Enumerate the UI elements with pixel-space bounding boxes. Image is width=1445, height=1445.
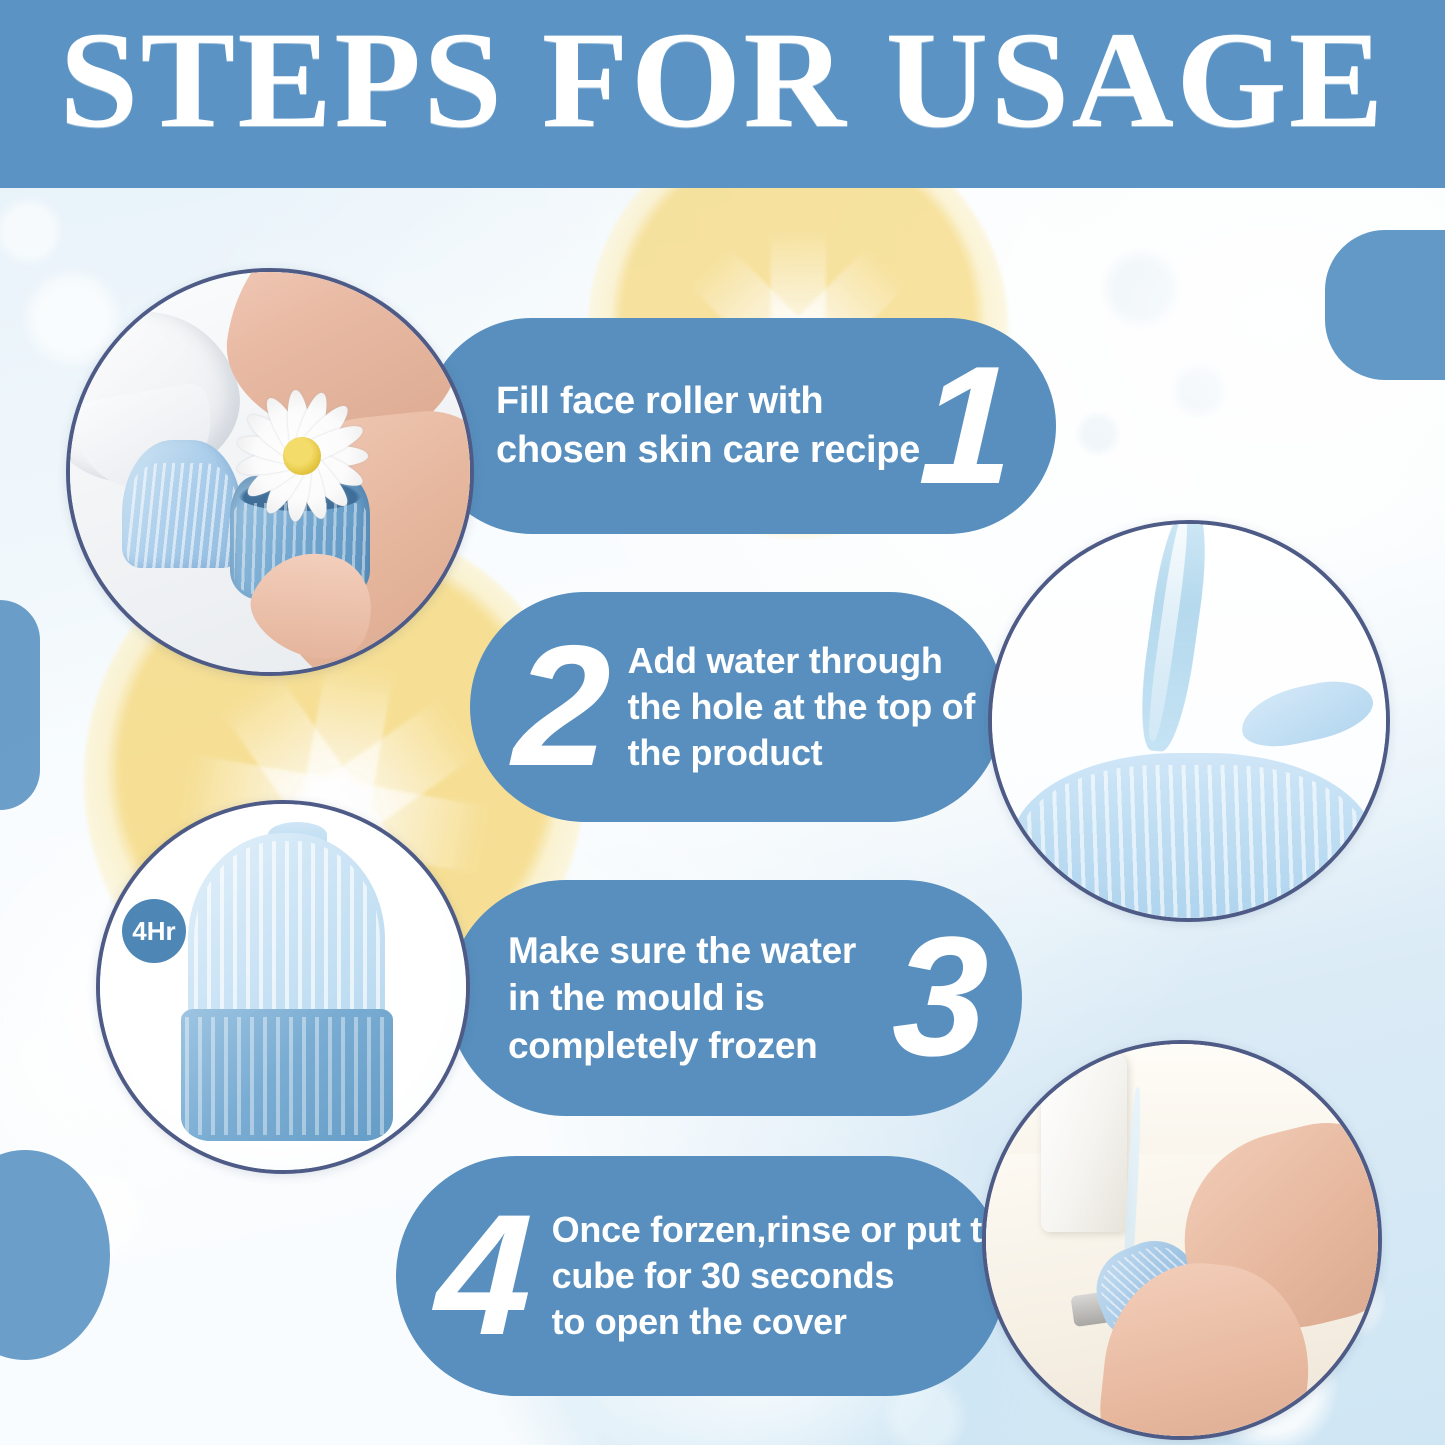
step-2-number: 2 [511,631,608,782]
faucet [1041,1052,1127,1232]
silicone-mould-light [122,440,242,568]
step-1-text: Fill face roller with chosen skin care r… [496,377,920,474]
decorative-blob-right [1325,230,1445,380]
photo-hand-placing-daisy [70,272,470,672]
daisy-flower-icon [230,384,374,528]
steps-for-usage-poster: STEPS FOR USAGE Fill face roller with ch… [0,0,1445,1445]
photo-rinsing-cube [986,1044,1378,1436]
faucet-head [1056,1052,1078,1077]
step-4-callout: 4 Once forzen,rinse or put the cube for … [396,1156,1006,1396]
step-1-photo [66,268,474,676]
step-2-callout: 2 Add water through the hole at the top … [470,592,1004,822]
step-1-callout: Fill face roller with chosen skin care r… [424,318,1056,534]
step-1-number: 1 [917,352,1012,500]
step-3-photo: 4Hr [96,800,470,1174]
step-2-photo [988,520,1390,922]
freeze-time-badge: 4Hr [122,899,186,963]
mould-cover [188,833,386,1023]
step-3-number: 3 [891,923,987,1073]
photo-water-pouring [992,524,1386,918]
step-4-text: Once forzen,rinse or put the cube for 30… [552,1207,1024,1345]
step-3-text: Make sure the water in the mould is comp… [508,927,856,1069]
step-4-photo [982,1040,1382,1440]
step-4-number: 4 [433,1200,530,1351]
header-banner: STEPS FOR USAGE [0,0,1445,188]
mould-base [181,1009,393,1141]
silicone-mould [1012,753,1374,922]
decorative-blob-left [0,600,40,810]
step-2-text: Add water through the hole at the top of… [628,638,975,776]
step-3-callout: Make sure the water in the mould is comp… [448,880,1022,1116]
daisy-center [283,437,320,474]
page-title: STEPS FOR USAGE [0,8,1445,153]
photo-frozen-mould: 4Hr [100,804,466,1170]
